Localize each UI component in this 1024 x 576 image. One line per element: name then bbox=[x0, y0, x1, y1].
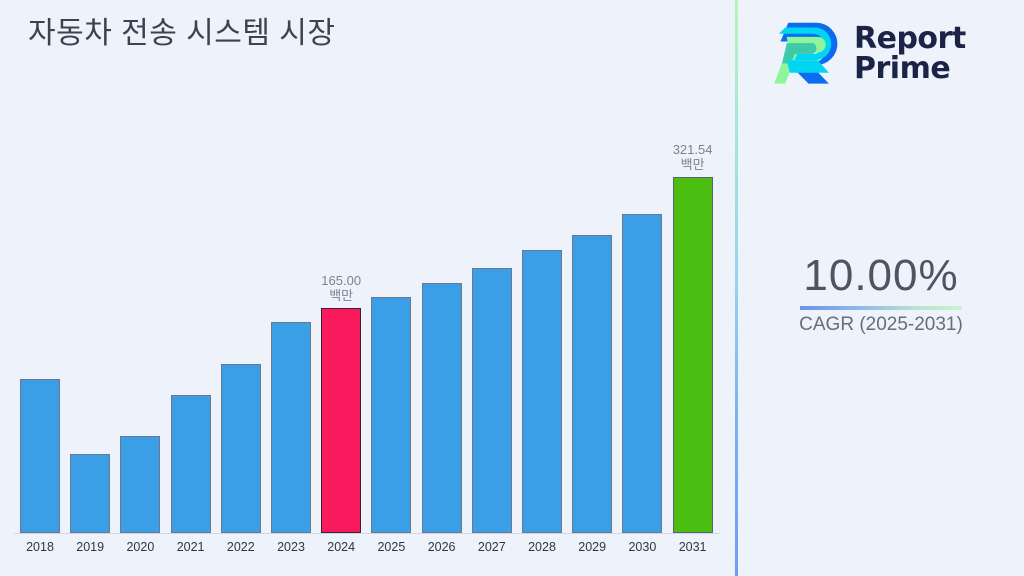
bar-2018[interactable] bbox=[20, 379, 60, 533]
bar-2021[interactable] bbox=[171, 395, 211, 533]
x-tick-2029: 2029 bbox=[564, 540, 620, 554]
x-tick-2028: 2028 bbox=[514, 540, 570, 554]
brand-logo[interactable]: Report Prime bbox=[768, 8, 1014, 100]
bar-value-label-2031: 321.54백만 bbox=[649, 142, 737, 172]
x-tick-2020: 2020 bbox=[112, 540, 168, 554]
x-tick-2018: 2018 bbox=[12, 540, 68, 554]
cagr-caption: CAGR (2025-2031) bbox=[738, 313, 1024, 337]
x-tick-2030: 2030 bbox=[614, 540, 670, 554]
report-prime-logo-icon bbox=[768, 15, 846, 93]
bar-2027[interactable] bbox=[472, 268, 512, 533]
bar-value-2031: 321.54 bbox=[649, 142, 737, 157]
x-axis-line bbox=[14, 533, 720, 534]
brand-logo-text: Report Prime bbox=[854, 24, 966, 84]
cagr-block: 10.00% CAGR (2025-2031) bbox=[738, 250, 1024, 337]
brand-line-1: Report bbox=[854, 24, 966, 54]
chart-panel: 201820192020202120222023165.00백만20242025… bbox=[0, 0, 736, 576]
cagr-value: 10.00% bbox=[738, 250, 1024, 302]
x-tick-2031: 2031 bbox=[665, 540, 721, 554]
bar-2029[interactable] bbox=[572, 235, 612, 533]
bar-value-2024: 165.00 bbox=[297, 273, 385, 288]
bar-2025[interactable] bbox=[371, 297, 411, 533]
bar-2019[interactable] bbox=[70, 454, 110, 533]
bar-2024[interactable] bbox=[321, 308, 361, 533]
bar-2022[interactable] bbox=[221, 364, 261, 533]
x-tick-2021: 2021 bbox=[163, 540, 219, 554]
bar-2028[interactable] bbox=[522, 250, 562, 533]
x-tick-2019: 2019 bbox=[62, 540, 118, 554]
brand-line-2: Prime bbox=[854, 54, 966, 84]
cagr-divider-rule bbox=[800, 306, 962, 310]
x-tick-2025: 2025 bbox=[363, 540, 419, 554]
x-tick-2024: 2024 bbox=[313, 540, 369, 554]
bar-2023[interactable] bbox=[271, 322, 311, 533]
x-tick-2026: 2026 bbox=[414, 540, 470, 554]
bar-2026[interactable] bbox=[422, 283, 462, 533]
bar-2020[interactable] bbox=[120, 436, 160, 533]
bar-2030[interactable] bbox=[622, 214, 662, 533]
bar-unit-2031: 백만 bbox=[649, 157, 737, 172]
bar-2031[interactable] bbox=[673, 177, 713, 533]
chart-slide: 자동차 전송 시스템 시장 20182019202020212022202316… bbox=[0, 0, 1024, 576]
info-panel: Report Prime 10.00% CAGR (2025-2031) bbox=[738, 0, 1024, 576]
bar-chart-plot: 201820192020202120222023165.00백만20242025… bbox=[0, 0, 736, 576]
x-tick-2022: 2022 bbox=[213, 540, 269, 554]
x-tick-2023: 2023 bbox=[263, 540, 319, 554]
x-tick-2027: 2027 bbox=[464, 540, 520, 554]
